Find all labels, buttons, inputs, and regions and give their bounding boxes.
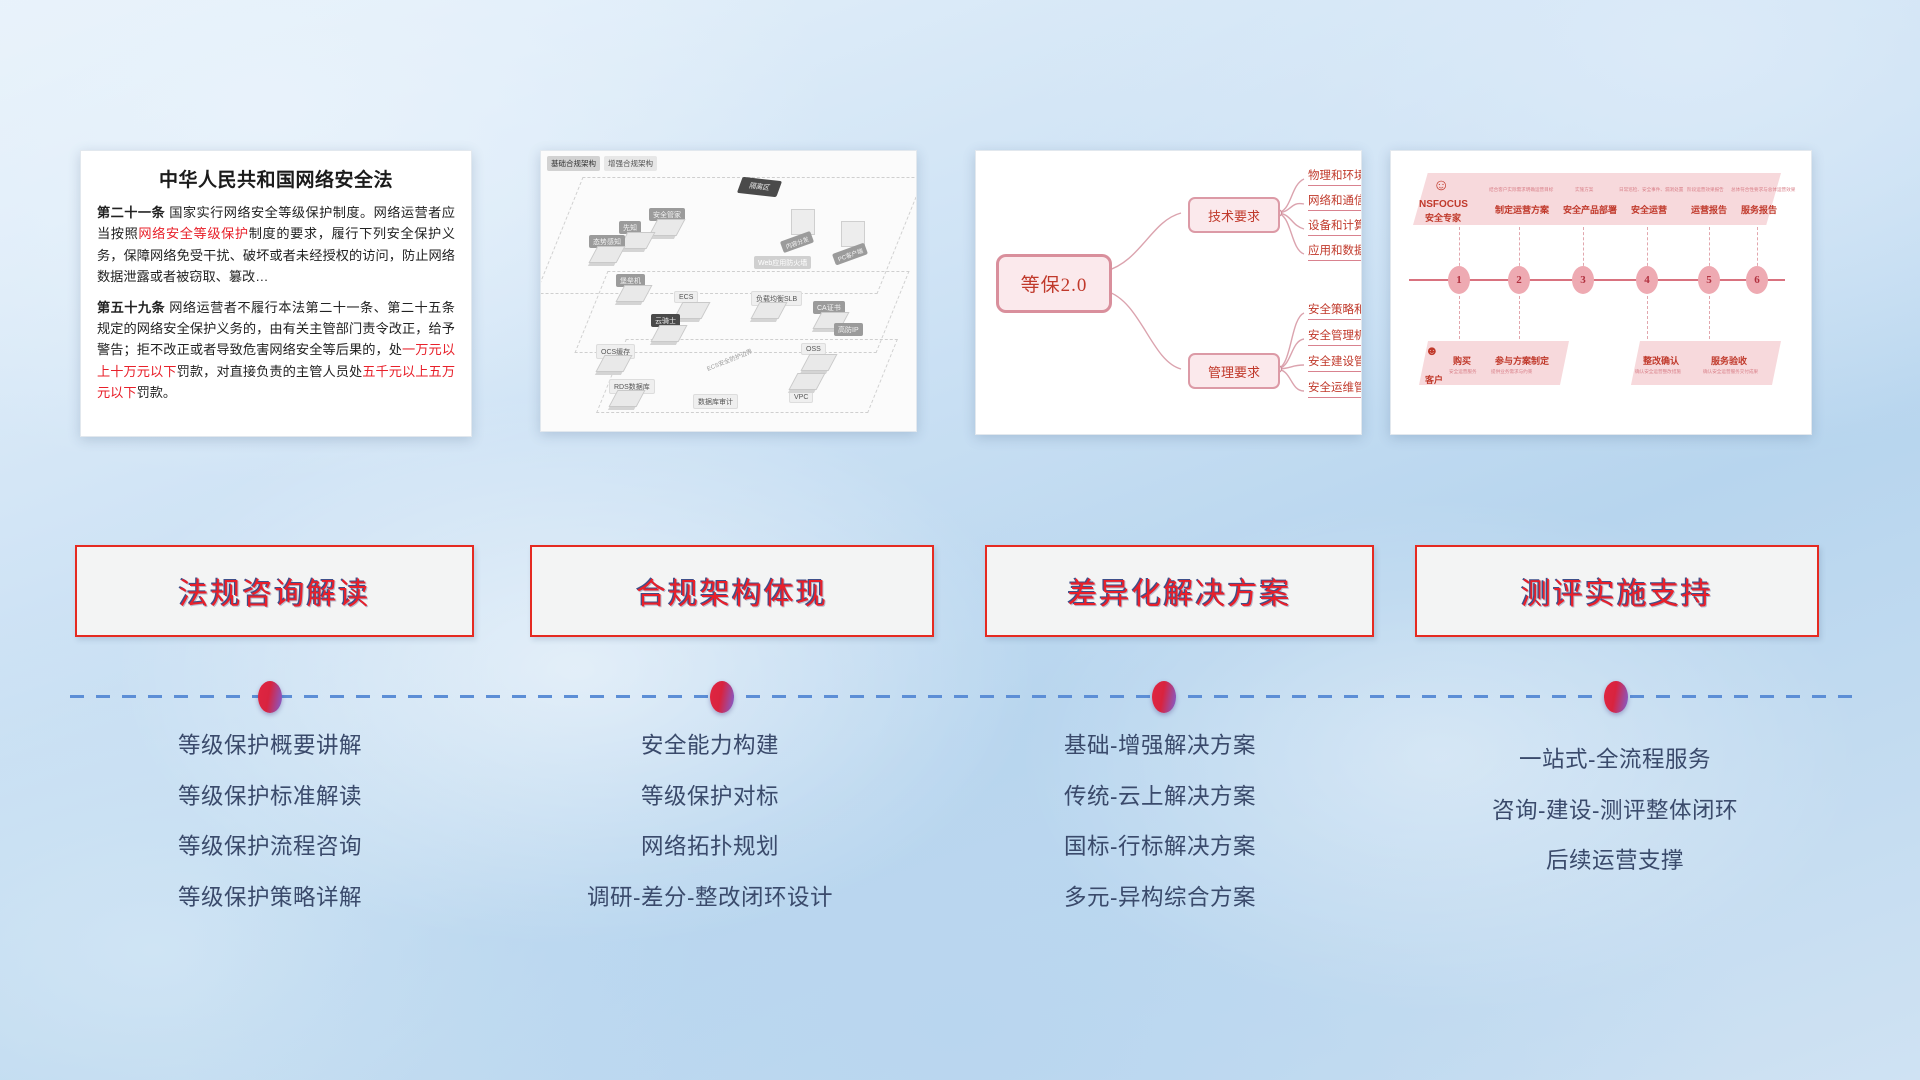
arch-node-waf: Web应用防火墙 bbox=[754, 256, 811, 269]
list-item: 等级保护策略详解 bbox=[60, 887, 480, 910]
mindmap-leaf-physical: 物理和环境安全 bbox=[1308, 167, 1362, 186]
list-item: 多元-异构综合方案 bbox=[950, 887, 1370, 910]
architecture-tabs: 基础合规架构 增强合规架构 bbox=[547, 156, 657, 171]
bottom-step-2-label: 整改确认 bbox=[1643, 354, 1679, 367]
article-59-label: 第五十九条 bbox=[97, 300, 165, 315]
detail-column-2: 安全能力构建 等级保护对标 网络拓扑规划 调研-差分-整改闭环设计 bbox=[500, 735, 920, 937]
mindmap-leaf-policy: 安全策略和管理制度 bbox=[1308, 301, 1362, 320]
top-step-4-label: 服务报告 bbox=[1741, 203, 1777, 216]
stem-5 bbox=[1709, 227, 1710, 271]
card-compliance-architecture: 基础合规架构 增强合规架构 隔离区 安全管家 先知 态势感知 堡垒机 ECS 云… bbox=[540, 150, 917, 432]
list-item: 等级保护标准解读 bbox=[60, 786, 480, 809]
stem-b3 bbox=[1647, 296, 1648, 344]
top-step-2-label: 安全运营 bbox=[1631, 203, 1667, 216]
card-nsfocus-service-flow: ☺ NSFOCUS 安全专家 结合客户实际需求明确运营目标 制定运营方案 实施方… bbox=[1390, 150, 1812, 435]
title-label-2: 差异化解决方案 bbox=[1068, 569, 1292, 613]
detail-list-row: 等级保护概要讲解 等级保护标准解读 等级保护流程咨询 等级保护策略详解 安全能力… bbox=[0, 735, 1920, 985]
bottom-step-0-label: 购买 bbox=[1453, 354, 1471, 367]
top-step-0-sub: 结合客户实际需求明确运营目标 bbox=[1489, 187, 1553, 193]
timeline-marker-4: 4 bbox=[1636, 266, 1658, 294]
list-item: 调研-差分-整改闭环设计 bbox=[500, 887, 920, 910]
top-step-3-label: 运营报告 bbox=[1691, 203, 1727, 216]
arch-box-cdn bbox=[791, 209, 815, 235]
nsfocus-brand-sub: 安全专家 bbox=[1425, 211, 1461, 224]
timeline-marker-1: 1 bbox=[1448, 266, 1470, 294]
stem-4 bbox=[1647, 227, 1648, 271]
expert-icon: ☺ bbox=[1433, 177, 1449, 195]
top-step-4-sub: 总体符合性要求与总体运营效果 bbox=[1731, 187, 1795, 193]
law-article-21: 第二十一条 国家实行网络安全等级保护制度。网络运营者应当按照网络安全等级保护制度… bbox=[97, 202, 455, 288]
list-item: 等级保护概要讲解 bbox=[60, 735, 480, 758]
mindmap-branch-management: 管理要求 bbox=[1188, 353, 1280, 389]
title-box-assessment-support[interactable]: 测评实施支持 bbox=[1415, 545, 1819, 637]
bottom-step-2-sub: 确认安全运营整改措施 bbox=[1635, 369, 1681, 375]
card-mindmap-dengbao: 等保2.0 技术要求 管理要求 物理和环境安全 网络和通信安全 设备和计算安全 … bbox=[975, 150, 1362, 435]
stem-b2 bbox=[1519, 296, 1520, 344]
title-box-row: 法规咨询解读 合规架构体现 差异化解决方案 测评实施支持 bbox=[0, 545, 1920, 635]
stem-3 bbox=[1583, 227, 1584, 271]
list-item: 一站式-全流程服务 bbox=[1400, 749, 1830, 772]
arch-node-db-audit: 数据库审计 bbox=[693, 394, 738, 409]
title-label-0: 法规咨询解读 bbox=[179, 569, 371, 613]
top-step-1-label: 安全产品部署 bbox=[1563, 203, 1617, 216]
law-title: 中华人民共和国网络安全法 bbox=[97, 165, 455, 192]
nsfocus-top-ribbon bbox=[1413, 173, 1781, 225]
timeline-dot-1 bbox=[258, 681, 282, 713]
stem-1 bbox=[1459, 227, 1460, 271]
card-cybersecurity-law: 中华人民共和国网络安全法 第二十一条 国家实行网络安全等级保护制度。网络运营者应… bbox=[80, 150, 472, 437]
mindmap-leaf-ops: 安全运维管理 bbox=[1308, 379, 1362, 398]
title-box-compliance-architecture[interactable]: 合规架构体现 bbox=[530, 545, 934, 637]
top-step-2-sub: 日常巡检、安全事件、漏洞处置 bbox=[1619, 187, 1683, 193]
top-step-1-sub: 实施方案 bbox=[1575, 187, 1593, 193]
list-item: 后续运营支撑 bbox=[1400, 850, 1830, 873]
top-step-0-label: 制定运营方案 bbox=[1495, 203, 1549, 216]
bottom-step-1-sub: 提供业务需求与约束 bbox=[1491, 369, 1532, 375]
stem-2 bbox=[1519, 227, 1520, 271]
timeline-dot-2 bbox=[710, 681, 734, 713]
stem-b1 bbox=[1459, 296, 1460, 344]
law-article-59: 第五十九条 网络运营者不履行本法第二十一条、第二十五条规定的网络安全保护义务的，… bbox=[97, 297, 455, 404]
mindmap-root: 等保2.0 bbox=[996, 254, 1112, 313]
timeline-dot-3 bbox=[1152, 681, 1176, 713]
list-item: 网络拓扑规划 bbox=[500, 836, 920, 859]
arch-node-vpc: VPC bbox=[789, 391, 813, 403]
image-card-row: 中华人民共和国网络安全法 第二十一条 国家实行网络安全等级保护制度。网络运营者应… bbox=[0, 150, 1920, 450]
timeline-dot-4 bbox=[1604, 681, 1628, 713]
bottom-step-3-sub: 确认安全运营服务交付成果 bbox=[1703, 369, 1758, 375]
arch-tab-basic[interactable]: 基础合规架构 bbox=[547, 156, 600, 171]
list-item: 国标-行标解决方案 bbox=[950, 836, 1370, 859]
list-item: 等级保护流程咨询 bbox=[60, 836, 480, 859]
list-item: 传统-云上解决方案 bbox=[950, 786, 1370, 809]
mindmap-branch-technical: 技术要求 bbox=[1188, 197, 1280, 233]
title-box-regulation-consulting[interactable]: 法规咨询解读 bbox=[75, 545, 474, 637]
mindmap-leaf-org: 安全管理机构和人员 bbox=[1308, 327, 1362, 346]
timeline-marker-2: 2 bbox=[1508, 266, 1530, 294]
mindmap-leaf-network: 网络和通信安全 bbox=[1308, 192, 1362, 211]
timeline-rail bbox=[70, 695, 1860, 698]
mindmap-leaf-device: 设备和计算安全 bbox=[1308, 217, 1362, 236]
timeline-marker-6: 6 bbox=[1746, 266, 1768, 294]
title-label-1: 合规架构体现 bbox=[636, 569, 828, 613]
nsfocus-brand: NSFOCUS bbox=[1419, 199, 1468, 210]
timeline-marker-3: 3 bbox=[1572, 266, 1594, 294]
list-item: 安全能力构建 bbox=[500, 735, 920, 758]
detail-column-1: 等级保护概要讲解 等级保护标准解读 等级保护流程咨询 等级保护策略详解 bbox=[60, 735, 480, 937]
article-21-label: 第二十一条 bbox=[97, 205, 165, 220]
stem-b4 bbox=[1709, 296, 1710, 344]
list-item: 咨询-建设-测评整体闭环 bbox=[1400, 800, 1830, 823]
customer-label: 客户 bbox=[1425, 373, 1443, 386]
bottom-step-0-sub: 安全运营服务 bbox=[1449, 369, 1477, 375]
detail-column-4: 一站式-全流程服务 咨询-建设-测评整体闭环 后续运营支撑 bbox=[1400, 749, 1830, 901]
timeline-marker-5: 5 bbox=[1698, 266, 1720, 294]
article-59-body-c: 罚款。 bbox=[137, 385, 177, 400]
bottom-step-3-label: 服务验收 bbox=[1711, 354, 1747, 367]
mindmap-leaf-application: 应用和数据安全 bbox=[1308, 242, 1362, 261]
top-step-3-sub: 阶段运营效果报告 bbox=[1687, 187, 1724, 193]
list-item: 等级保护对标 bbox=[500, 786, 920, 809]
title-box-differentiated-solution[interactable]: 差异化解决方案 bbox=[985, 545, 1374, 637]
bottom-step-1-label: 参与方案制定 bbox=[1495, 354, 1549, 367]
customer-icon: ☻ bbox=[1425, 343, 1439, 358]
arch-node-anti-ddos: 高防IP bbox=[834, 323, 863, 336]
article-59-body-b: 罚款，对直接负责的主管人员处 bbox=[177, 364, 363, 379]
detail-column-3: 基础-增强解决方案 传统-云上解决方案 国标-行标解决方案 多元-异构综合方案 bbox=[950, 735, 1370, 937]
title-label-3: 测评实施支持 bbox=[1521, 569, 1713, 613]
stem-6 bbox=[1757, 227, 1758, 271]
article-21-highlight: 网络安全等级保护 bbox=[138, 226, 248, 241]
list-item: 基础-增强解决方案 bbox=[950, 735, 1370, 758]
mindmap-leaf-construction: 安全建设管理 bbox=[1308, 353, 1362, 372]
arch-tab-enhanced[interactable]: 增强合规架构 bbox=[604, 156, 657, 171]
